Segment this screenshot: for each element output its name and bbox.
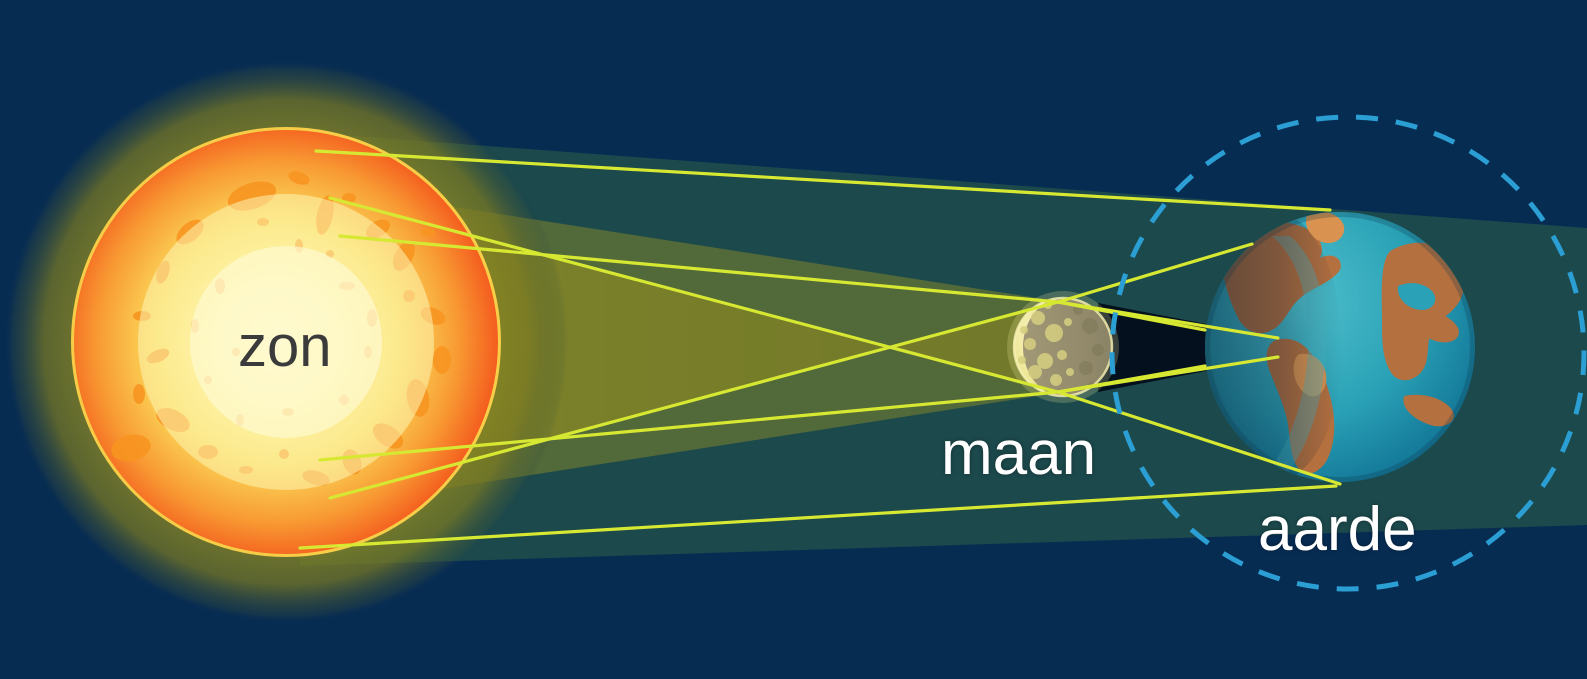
- diagram-canvas: [0, 0, 1587, 679]
- earth-body: [1205, 212, 1475, 482]
- sun-core-bright: [190, 246, 382, 438]
- sun-body: [71, 127, 501, 557]
- eclipse-diagram: zon maan aarde: [0, 0, 1587, 679]
